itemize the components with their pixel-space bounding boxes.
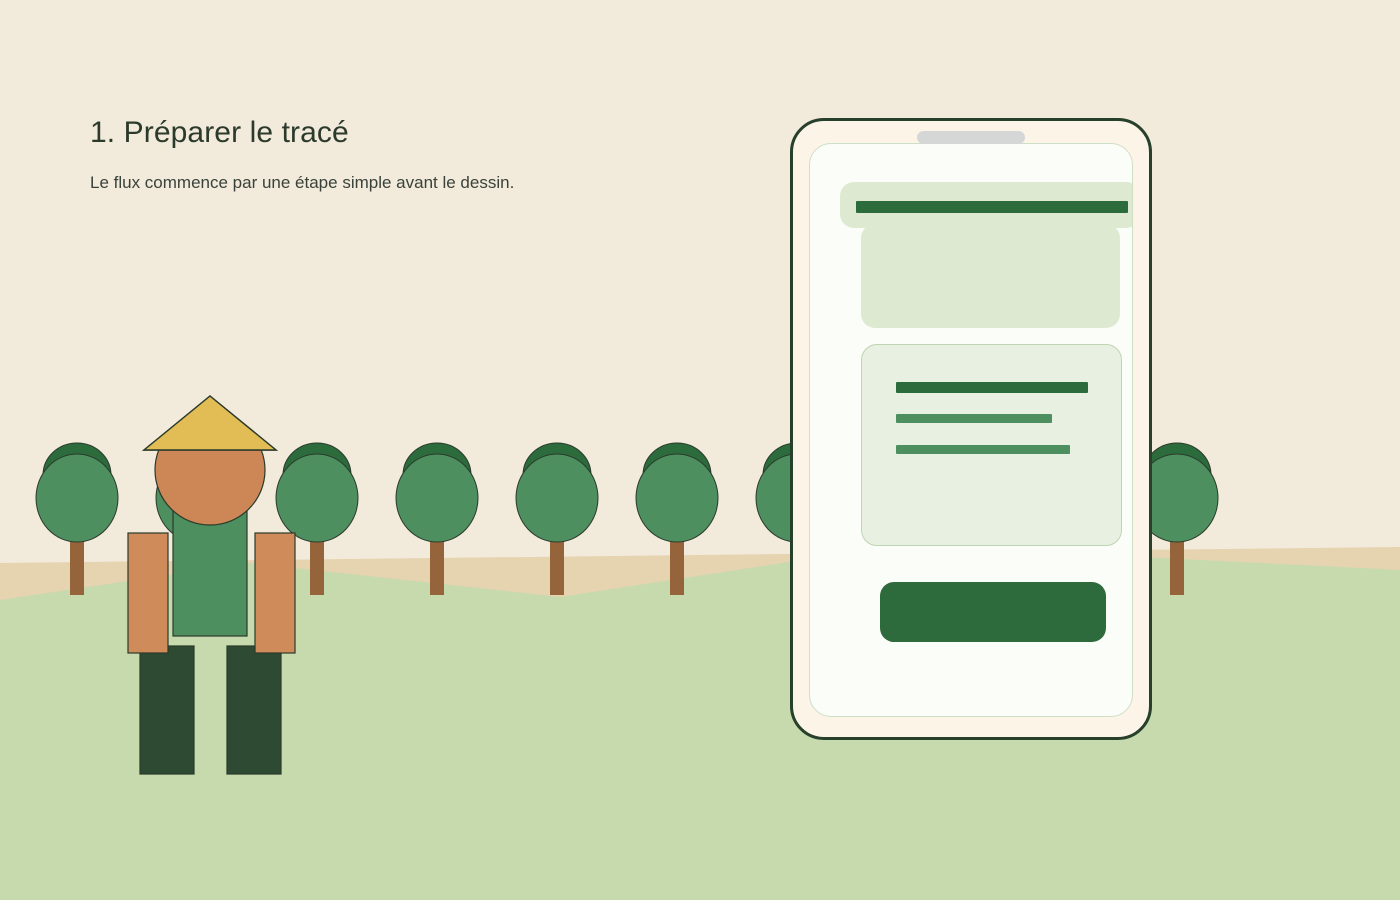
person-leg-left [140, 646, 194, 774]
person-figure [100, 380, 360, 790]
content-card[interactable] [861, 344, 1122, 546]
header-title-placeholder-line [856, 201, 1128, 213]
phone-mockup[interactable] [790, 118, 1152, 740]
conical-hat-brim [144, 396, 276, 450]
primary-action-button[interactable] [880, 582, 1106, 642]
phone-screen[interactable] [809, 143, 1133, 717]
tree [636, 443, 718, 595]
hero-placeholder-block [861, 224, 1120, 328]
card-line-secondary [896, 414, 1052, 423]
speaker-notch-icon [917, 131, 1025, 144]
page-title: 1. Préparer le tracé [90, 114, 730, 152]
person-leg-right [227, 646, 281, 774]
tree [396, 443, 478, 595]
person-arm-right [255, 533, 295, 653]
tree [516, 443, 598, 595]
card-line-primary [896, 382, 1088, 393]
phone-frame [790, 118, 1152, 740]
illustration-canvas: 1. Préparer le tracé Le flux commence pa… [0, 0, 1400, 900]
page-subtitle: Le flux commence par une étape simple av… [90, 172, 730, 195]
person-torso [173, 508, 247, 636]
card-line-tertiary [896, 445, 1070, 454]
person-arm-left [128, 533, 168, 653]
step-text-block: 1. Préparer le tracé Le flux commence pa… [90, 114, 730, 194]
